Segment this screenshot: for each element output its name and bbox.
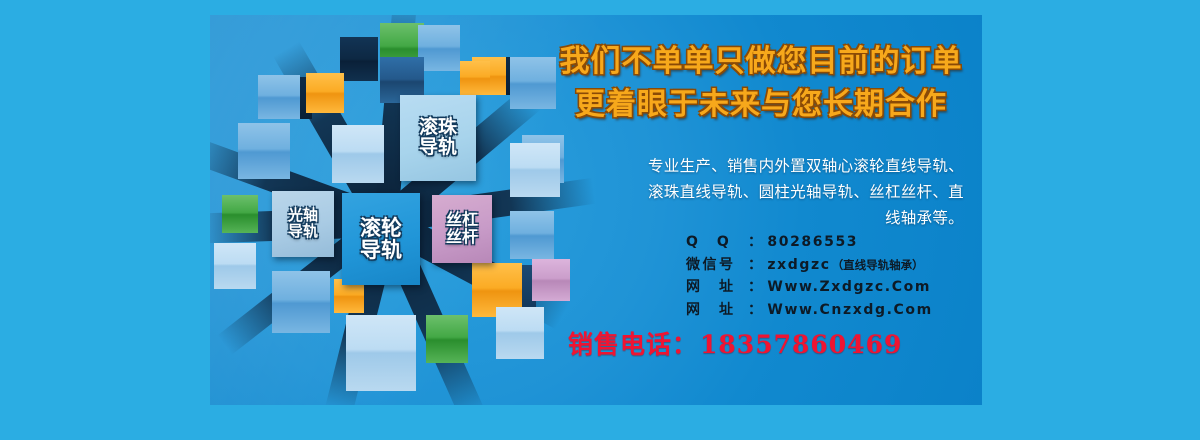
cube bbox=[418, 25, 460, 71]
label-cube-ball-guide-rail[interactable]: 滚珠 导轨 bbox=[400, 95, 476, 181]
description-line: 专业生产、销售内外置双轴心滚轮直线导轨、 bbox=[558, 153, 964, 179]
copy-column: 我们不单单只做您目前的订单 更着眼于未来与您长期合作 专业生产、销售内外置双轴心… bbox=[540, 15, 982, 405]
cube bbox=[426, 315, 468, 363]
headline: 我们不单单只做您目前的订单 更着眼于未来与您长期合作 bbox=[540, 41, 982, 126]
cube bbox=[332, 125, 384, 183]
contact-colon: ： bbox=[748, 254, 762, 277]
contact-row-qq: Q Q ： 80286553 bbox=[686, 231, 982, 254]
telephone-label: 销售电话： bbox=[568, 330, 698, 359]
contact-value-website-1[interactable]: Www.Zxdgzc.Com bbox=[767, 276, 931, 299]
label-cube-lead-screw[interactable]: 丝杠 丝杆 bbox=[432, 195, 492, 263]
contact-label: 微信号 bbox=[686, 254, 748, 277]
description-line: 线轴承等。 bbox=[558, 205, 964, 231]
cube bbox=[258, 75, 300, 119]
cube bbox=[496, 307, 544, 359]
contact-row-website-1: 网 址 ： Www.Zxdgzc.Com bbox=[686, 276, 982, 299]
cube-explosion-artwork: 滚珠 导轨 光轴 导轨 滚轮 导轨 丝杠 丝杆 bbox=[210, 15, 570, 405]
telephone-number[interactable]: 18357860469 bbox=[700, 330, 902, 359]
cube bbox=[460, 61, 490, 95]
description: 专业生产、销售内外置双轴心滚轮直线导轨、 滚珠直线导轨、圆柱光轴导轨、丝杠丝杆、… bbox=[558, 153, 964, 231]
cube bbox=[272, 271, 330, 333]
contact-label: Q Q bbox=[686, 231, 748, 254]
contact-colon: ： bbox=[748, 276, 762, 299]
cube bbox=[346, 315, 416, 391]
cube bbox=[238, 123, 290, 179]
contact-row-wechat: 微信号 ： zxdgzc （直线导轨轴承） bbox=[686, 254, 982, 277]
label-cube-text: 滚珠 导轨 bbox=[419, 118, 457, 158]
cube bbox=[222, 195, 258, 233]
telephone-block: 销售电话：18357860469 bbox=[568, 325, 978, 361]
banner-stage: 滚珠 导轨 光轴 导轨 滚轮 导轨 丝杠 丝杆 我们不单单只做您目前的订单 更着… bbox=[0, 0, 1200, 440]
contact-note: （直线导轨轴承） bbox=[832, 256, 924, 275]
contact-block: Q Q ： 80286553 微信号 ： zxdgzc （直线导轨轴承） 网 址… bbox=[686, 231, 982, 322]
contact-label: 网 址 bbox=[686, 276, 748, 299]
label-cube-roller-guide-rail[interactable]: 滚轮 导轨 bbox=[342, 193, 420, 285]
cube bbox=[214, 243, 256, 289]
contact-colon: ： bbox=[748, 299, 762, 322]
contact-label: 网 址 bbox=[686, 299, 748, 322]
contact-colon: ： bbox=[748, 231, 762, 254]
contact-value-wechat[interactable]: zxdgzc bbox=[767, 254, 830, 277]
label-cube-text: 丝杠 丝杆 bbox=[446, 212, 478, 246]
contact-row-website-2: 网 址 ： Www.Cnzxdg.Com bbox=[686, 299, 982, 322]
contact-value-website-2[interactable]: Www.Cnzxdg.Com bbox=[767, 299, 932, 322]
description-line: 滚珠直线导轨、圆柱光轴导轨、丝杠丝杆、直 bbox=[558, 179, 964, 205]
contact-value-qq[interactable]: 80286553 bbox=[767, 231, 858, 254]
cube bbox=[306, 73, 344, 113]
cube bbox=[340, 37, 378, 81]
label-cube-text: 滚轮 导轨 bbox=[360, 217, 402, 261]
banner-panel: 滚珠 导轨 光轴 导轨 滚轮 导轨 丝杠 丝杆 我们不单单只做您目前的订单 更着… bbox=[210, 15, 982, 405]
label-cube-text: 光轴 导轨 bbox=[288, 208, 318, 240]
label-cube-optical-shaft-guide[interactable]: 光轴 导轨 bbox=[272, 191, 334, 257]
